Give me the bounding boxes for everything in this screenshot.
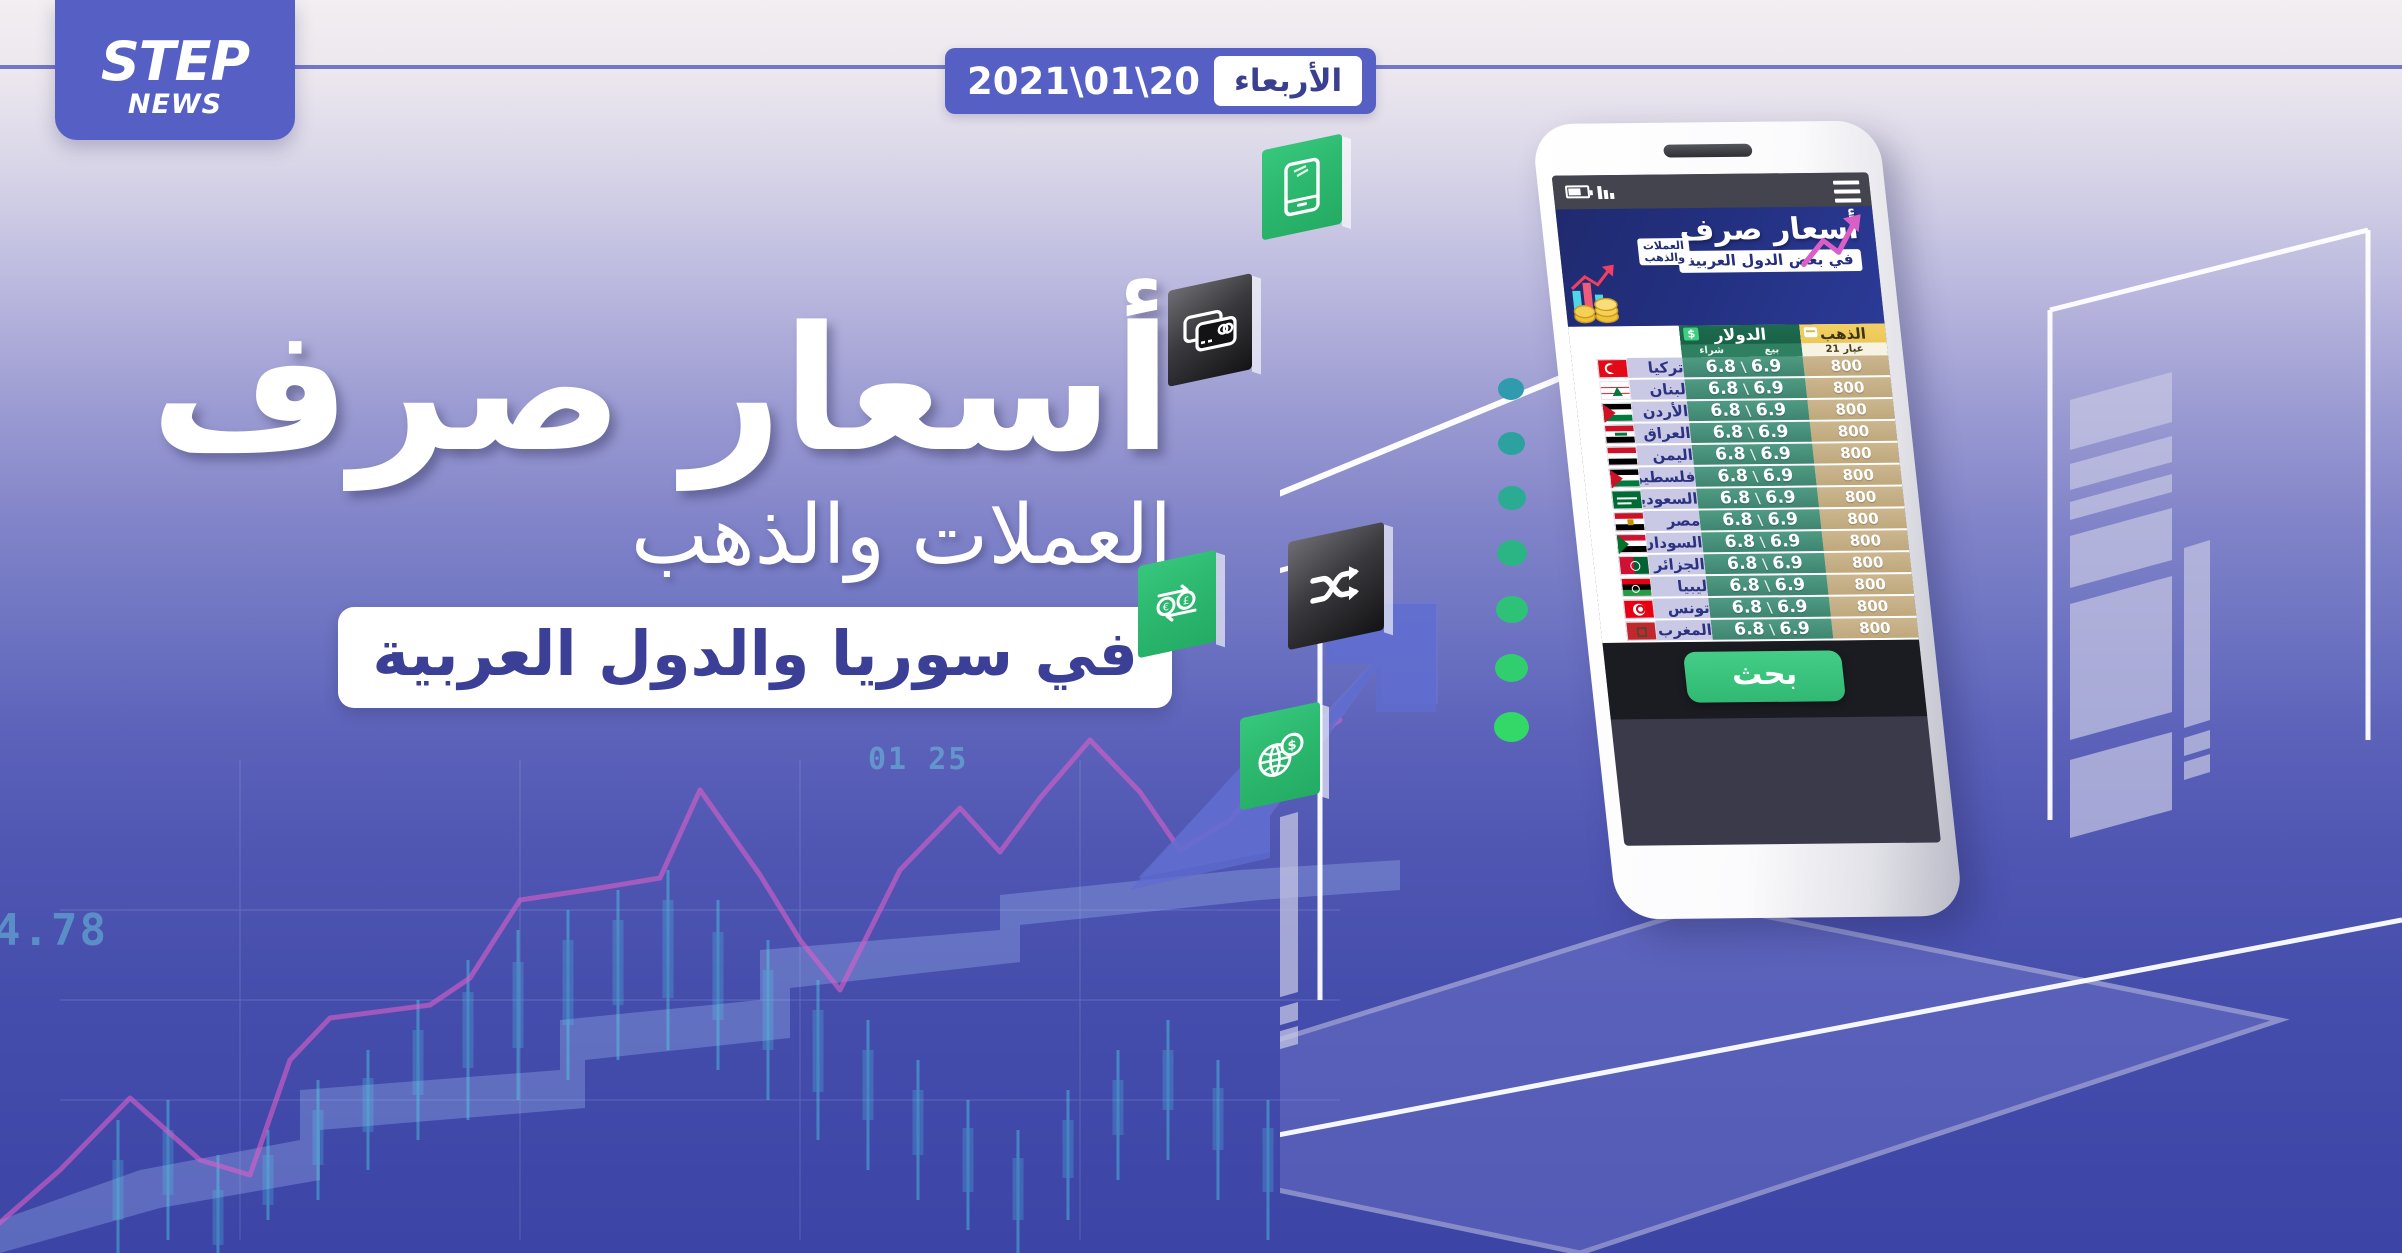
cell-country-name: فلسطين — [1639, 466, 1697, 488]
gold-bar-icon — [1803, 327, 1817, 337]
cell-gold-price: 800 — [1821, 529, 1909, 552]
cell-dollar-rate: 6.9\6.8 — [1711, 618, 1834, 641]
cell-country-name: العراق — [1634, 422, 1692, 444]
cell-country-flag — [1588, 510, 1646, 532]
cell-country-flag — [1583, 466, 1641, 488]
sell-value: 6.9 — [1760, 444, 1792, 464]
gold-label: الذهب — [1819, 324, 1867, 342]
cell-country-name: تونس — [1653, 597, 1711, 619]
gold-coins-chart-icon — [1565, 264, 1646, 324]
cell-country-flag — [1590, 532, 1648, 554]
smartphone-icon — [1281, 155, 1323, 220]
buy-value: 6.8 — [1733, 619, 1765, 639]
step-news-logo[interactable]: STEP NEWS — [55, 0, 295, 140]
cell-country-flag — [1579, 423, 1637, 445]
buy-value: 6.8 — [1707, 379, 1739, 399]
cell-country-name: السودان — [1646, 531, 1704, 553]
cell-dollar-rate: 6.9\6.8 — [1689, 421, 1812, 444]
cell-dollar-rate: 6.9\6.8 — [1694, 465, 1817, 488]
flag-eg-icon — [1613, 512, 1645, 531]
rate-separator: \ — [1750, 447, 1757, 463]
headline-region-badge: في سوريا والدول العربية — [338, 607, 1172, 708]
cell-gold-price: 800 — [1824, 551, 1912, 574]
cell-gold-price: 800 — [1814, 464, 1902, 487]
card-edge — [1342, 136, 1351, 229]
cell-dollar-rate: 6.9\6.8 — [1685, 377, 1808, 400]
column-header-country — [1568, 326, 1682, 359]
sell-value: 6.9 — [1764, 488, 1796, 508]
dot-6 — [1495, 654, 1528, 682]
sell-value: 6.9 — [1769, 531, 1801, 551]
rates-table-wrapper: الذهب عيار 21 $ الدولار بيع شراء — [1568, 323, 1919, 642]
rate-separator: \ — [1745, 404, 1752, 420]
svg-text:£: £ — [1183, 595, 1189, 607]
cell-country-flag — [1581, 445, 1639, 467]
cell-gold-price: 800 — [1805, 376, 1893, 399]
credit-cards-card[interactable] — [1168, 273, 1252, 387]
dollar-subheaders: بيع شراء — [1681, 343, 1803, 357]
app-header-badge: العملات والذهب — [1637, 238, 1691, 265]
flag-ps-icon — [1609, 468, 1641, 487]
cell-country-flag — [1598, 598, 1656, 620]
card-edge — [1216, 552, 1225, 647]
cell-country-name: الأردن — [1632, 400, 1690, 422]
rate-separator: \ — [1740, 360, 1747, 376]
flag-ye-icon — [1606, 446, 1638, 465]
cell-country-flag — [1572, 358, 1630, 379]
rate-separator: \ — [1759, 535, 1766, 551]
card-edge — [1384, 524, 1393, 635]
svg-text:€: € — [1163, 602, 1169, 614]
cell-country-name: المغرب — [1655, 619, 1713, 641]
column-header-gold: الذهب عيار 21 — [1799, 323, 1888, 356]
dot-7 — [1494, 712, 1529, 742]
cell-dollar-rate: 6.9\6.8 — [1696, 486, 1819, 509]
dot-1 — [1498, 378, 1524, 400]
globe-dollar-icon: $ — [1254, 725, 1306, 786]
sell-label: بيع — [1741, 343, 1803, 357]
date-value: 2021\01\20 — [967, 60, 1200, 103]
sell-value: 6.9 — [1762, 466, 1794, 486]
phone-status-bar — [1552, 172, 1872, 209]
buy-value: 6.8 — [1721, 510, 1753, 530]
flag-tn-icon — [1623, 599, 1655, 618]
buy-value: 6.8 — [1714, 444, 1746, 464]
search-button[interactable]: بحث — [1683, 650, 1846, 702]
badge-line-2: والذهب — [1644, 250, 1686, 263]
sell-value: 6.9 — [1750, 356, 1782, 376]
cell-country-name: اليمن — [1636, 444, 1694, 466]
flag-sd-icon — [1616, 534, 1648, 553]
transfer-shuffle-icon — [1307, 556, 1365, 616]
credit-cards-icon — [1182, 302, 1238, 358]
rate-separator: \ — [1766, 600, 1773, 616]
cell-country-name: الجزائر — [1648, 553, 1706, 575]
cell-gold-price: 800 — [1817, 486, 1905, 509]
weekday-value: الأربعاء — [1214, 56, 1362, 106]
rate-separator: \ — [1752, 469, 1759, 485]
globe-dollar-card[interactable]: $ — [1240, 701, 1320, 810]
gold-karat-label: عيار 21 — [1801, 342, 1888, 356]
cell-country-flag — [1574, 379, 1632, 401]
dollar-label: الدولار — [1713, 325, 1767, 344]
cell-gold-price: 800 — [1810, 420, 1898, 443]
isometric-scene: € £ $ — [1280, 120, 2402, 1253]
sell-value: 6.9 — [1776, 597, 1808, 617]
cell-dollar-rate: 6.9\6.8 — [1708, 596, 1831, 619]
flag-dz-icon — [1618, 555, 1650, 574]
cell-country-name: ليبيا — [1651, 575, 1709, 597]
rate-separator: \ — [1743, 382, 1750, 398]
transfer-shuffle-card[interactable] — [1288, 522, 1384, 650]
card-edge — [1252, 276, 1261, 375]
buy-value: 6.8 — [1716, 466, 1748, 486]
sell-value: 6.9 — [1757, 422, 1789, 442]
cell-dollar-rate: 6.9\6.8 — [1699, 508, 1822, 531]
cell-country-name: لبنان — [1629, 378, 1687, 400]
rate-separator: \ — [1754, 491, 1761, 507]
rate-separator: \ — [1747, 425, 1754, 441]
buy-value: 6.8 — [1726, 554, 1758, 574]
sell-value: 6.9 — [1779, 619, 1811, 639]
cell-country-name: مصر — [1643, 510, 1701, 532]
sell-value: 6.9 — [1774, 575, 1806, 595]
column-header-dollar: $ الدولار بيع شراء — [1679, 324, 1803, 357]
exchange-rates-table: الذهب عيار 21 $ الدولار بيع شراء — [1568, 323, 1919, 642]
currency-exchange-card[interactable]: € £ — [1138, 550, 1216, 659]
buy-value: 6.8 — [1709, 401, 1741, 421]
table-header-row: الذهب عيار 21 $ الدولار بيع شراء — [1568, 323, 1888, 358]
sell-value: 6.9 — [1755, 400, 1787, 420]
cell-country-name: تركيا — [1627, 357, 1685, 378]
buy-value: 6.8 — [1724, 532, 1756, 552]
rate-separator: \ — [1764, 578, 1771, 594]
rates-table-body: 8006.9\6.8تركيا8006.9\6.8لبنان8006.9\6.8… — [1572, 355, 1919, 642]
cell-gold-price: 800 — [1819, 507, 1907, 530]
buy-value: 6.8 — [1719, 488, 1751, 508]
flag-sa-icon — [1611, 490, 1643, 509]
flag-lb-icon — [1599, 380, 1631, 399]
cell-gold-price: 800 — [1826, 573, 1914, 596]
sell-value: 6.9 — [1752, 378, 1784, 398]
cell-gold-price: 800 — [1803, 355, 1891, 377]
logo-text-news: NEWS — [128, 91, 222, 118]
flag-ly-icon — [1621, 577, 1653, 596]
headline-block: أسعار صرف العملات والذهب في سوريا والدول… — [132, 300, 1172, 708]
cell-country-flag — [1595, 576, 1653, 598]
logo-text-step: STEP — [101, 35, 249, 89]
header-growth-arrow-icon — [1794, 210, 1873, 268]
buy-label: شراء — [1681, 344, 1743, 358]
buy-value: 6.8 — [1712, 423, 1744, 443]
sell-value: 6.9 — [1767, 510, 1799, 530]
dot-2 — [1498, 432, 1525, 455]
dot-4 — [1497, 540, 1527, 566]
buy-value: 6.8 — [1728, 576, 1760, 596]
cell-dollar-rate: 6.9\6.8 — [1682, 356, 1805, 378]
phone-earpiece — [1662, 144, 1752, 158]
flag-tr-icon — [1597, 359, 1629, 378]
buy-value: 6.8 — [1705, 357, 1737, 377]
rate-separator: \ — [1757, 513, 1764, 529]
card-edge — [1320, 704, 1329, 799]
cell-gold-price: 800 — [1807, 398, 1895, 421]
app-header: أسعار صرف في بعض الدول العربية العملات و… — [1555, 206, 1884, 327]
page-title: أسعار صرف — [132, 300, 1172, 481]
cell-dollar-rate: 6.9\6.8 — [1692, 443, 1815, 466]
status-indicators — [1565, 184, 1615, 199]
cell-country-flag — [1600, 619, 1658, 641]
headline-subtitle: العملات والذهب — [132, 487, 1172, 585]
dollar-symbol-icon: $ — [1683, 327, 1699, 340]
smartphone-card[interactable] — [1262, 133, 1342, 240]
cell-dollar-rate: 6.9\6.8 — [1704, 552, 1827, 575]
rate-separator: \ — [1769, 622, 1776, 638]
rate-separator: \ — [1762, 557, 1769, 573]
cell-country-flag — [1576, 401, 1634, 423]
cell-dollar-rate: 6.9\6.8 — [1706, 574, 1829, 597]
cell-dollar-rate: 6.9\6.8 — [1701, 530, 1824, 553]
hamburger-menu-icon[interactable] — [1833, 180, 1862, 207]
flag-ma-icon — [1625, 621, 1657, 640]
search-area: بحث — [1602, 640, 1927, 720]
cell-gold-price: 800 — [1831, 617, 1919, 640]
dot-3 — [1498, 486, 1526, 510]
cell-country-flag — [1586, 488, 1644, 510]
cell-country-name: السعودية — [1641, 488, 1699, 510]
flag-iq-icon — [1604, 424, 1636, 443]
buy-value: 6.8 — [1731, 597, 1763, 617]
svg-text:$: $ — [1287, 738, 1296, 755]
cell-country-flag — [1593, 554, 1651, 576]
signal-bars-icon — [1597, 184, 1615, 199]
cell-gold-price: 800 — [1812, 442, 1900, 465]
flag-jo-icon — [1602, 402, 1634, 421]
dot-5 — [1496, 596, 1528, 623]
battery-icon — [1565, 185, 1591, 198]
date-badge: 2021\01\20 الأربعاء — [945, 48, 1376, 114]
cell-gold-price: 800 — [1829, 595, 1917, 618]
cell-dollar-rate: 6.9\6.8 — [1687, 399, 1810, 422]
sell-value: 6.9 — [1771, 553, 1803, 573]
currency-exchange-icon: € £ — [1151, 573, 1203, 634]
table-row[interactable]: 8006.9\6.8المغرب — [1600, 617, 1919, 642]
